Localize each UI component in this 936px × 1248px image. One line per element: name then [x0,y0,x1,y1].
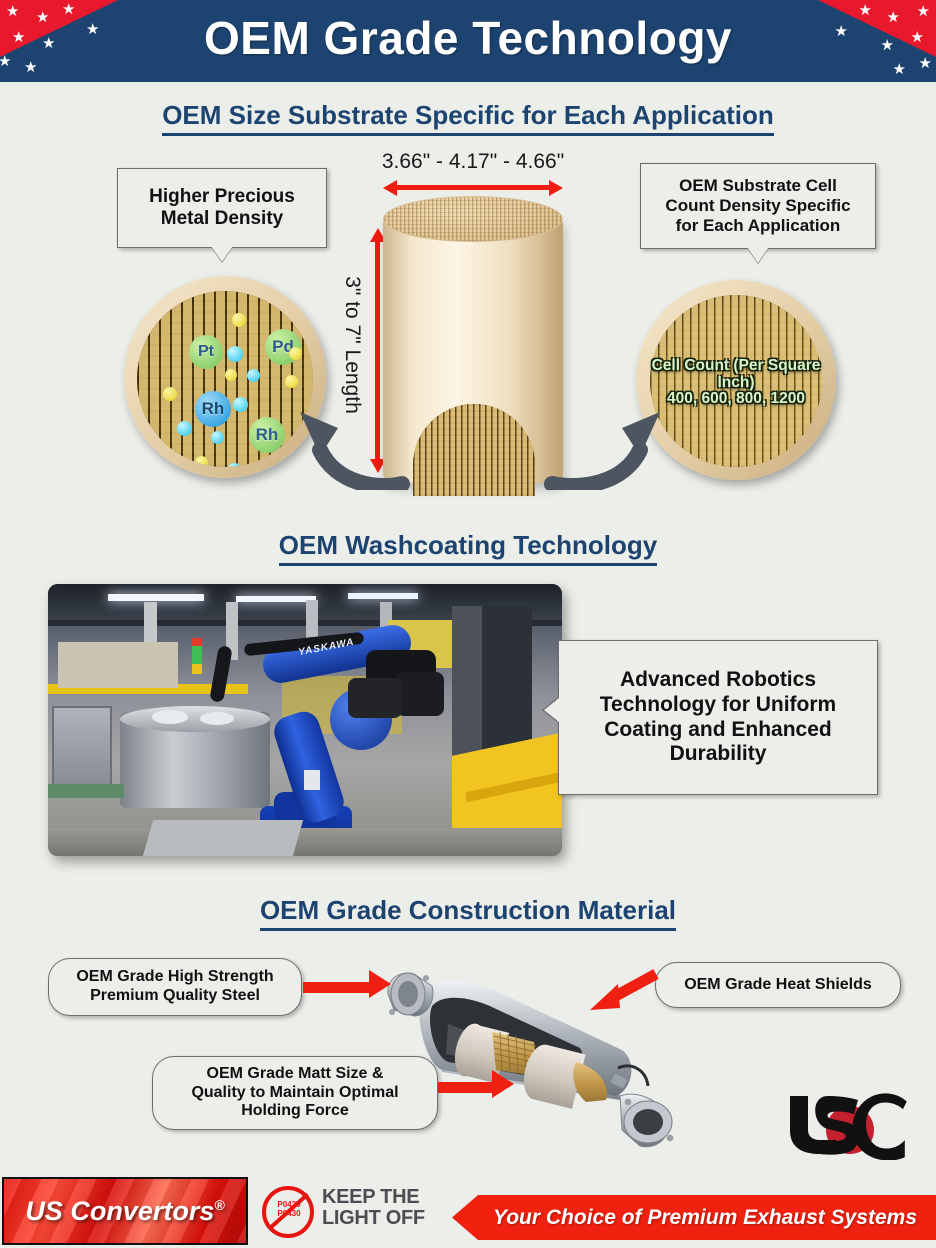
precious-metal-pt: Pt [189,335,223,369]
callout-matt-size-quality: OEM Grade Matt Size & Quality to Maintai… [152,1056,438,1130]
callout-cc-line3: for Each Application [665,216,850,236]
brand-name: US Convertors® [25,1196,224,1227]
page-footer: US Convertors® P0420 P0430 KEEP THE LIGH… [0,1165,936,1248]
precious-metal-particle [227,463,242,467]
callout-ar-line4: Durability [600,742,836,767]
tagline-text: Your Choice of Premium Exhaust Systems [471,1206,917,1230]
cell-count-title: Cell Count (Per Square Inch) [636,358,836,391]
callout-cc-line2: Count Density Specific [665,196,850,216]
precious-metal-particle [227,346,243,362]
curved-arrow-left [290,398,410,490]
precious-metal-particle [289,347,302,360]
precious-metal-particle [225,369,237,381]
dtc-codes: P0420 P0430 [273,1200,305,1219]
section-heading-material-text: OEM Grade Construction Material [260,895,676,931]
section-heading-material: OEM Grade Construction Material [0,895,936,926]
precious-metal-particle [285,375,298,388]
precious-metal-particle [233,397,248,412]
arrow-to-heat-shields [586,968,662,1014]
substrate-diameter-label: 3.66" - 4.17" - 4.66" [333,150,613,174]
arrow-to-steel [303,982,371,993]
section-heading-washcoating-text: OEM Washcoating Technology [279,530,657,566]
page-title: OEM Grade Technology [0,0,936,76]
stars-triangle-icon-right: ★ ★ ★ ★ ★ ★ ★ ★ [818,0,936,82]
callout-advanced-robotics: Advanced Robotics Technology for Uniform… [558,640,878,795]
callout-steel-line2: Premium Quality Steel [76,987,273,1006]
callout-matt-line2: Quality to Maintain Optimal [191,1084,398,1103]
section-heading-size: OEM Size Substrate Specific for Each App… [0,100,936,131]
arrow-head-matt [492,1070,514,1098]
substrate-cylinder-illustration [383,196,563,496]
precious-metal-particle [177,421,192,436]
precious-metal-rh: Rh [195,391,231,427]
callout-tail-robotics [544,698,559,722]
keep-light-off-text: KEEP THE LIGHT OFF [322,1187,425,1230]
callout-premium-quality-steel: OEM Grade High Strength Premium Quality … [48,958,302,1016]
arrow-to-matt [438,1082,494,1093]
precious-metal-rh: Rh [249,417,285,453]
arrow-head-steel [369,970,391,998]
page-header: ★ ★ ★ ★ ★ ★ ★ ★ OEM Grade Technology ★ ★… [0,0,936,82]
section-heading-size-text: OEM Size Substrate Specific for Each App… [162,100,774,136]
callout-tail-right [747,247,769,263]
precious-metal-particle [232,313,246,327]
callout-pm-line2: Metal Density [149,208,295,230]
usc-logo [784,1090,920,1160]
callout-matt-line1: OEM Grade Matt Size & [191,1065,398,1084]
precious-metal-particle [247,369,260,382]
keep-the-light-off-logo: P0420 P0430 KEEP THE LIGHT OFF [262,1185,442,1237]
precious-metal-particle [195,456,208,467]
section-heading-washcoating: OEM Washcoating Technology [0,530,936,561]
callout-heat-shields-text: OEM Grade Heat Shields [684,976,872,995]
callout-ar-line2: Technology for Uniform [600,693,836,718]
robotics-photo: YASKAWA [48,584,562,856]
curved-arrow-right [540,398,670,490]
callout-heat-shields: OEM Grade Heat Shields [655,962,901,1008]
callout-steel-line1: OEM Grade High Strength [76,968,273,987]
callout-matt-line3: Holding Force [191,1102,398,1121]
diameter-dimension-arrow [383,180,563,194]
precious-metal-particle [211,431,224,444]
callout-higher-precious-metal-density: Higher Precious Metal Density [117,168,327,248]
callout-cell-count-density: OEM Substrate Cell Count Density Specifi… [640,163,876,249]
callout-ar-line3: Coating and Enhanced [600,718,836,743]
callout-ar-line1: Advanced Robotics [600,668,836,693]
callout-tail-left [211,246,233,262]
brand-badge: US Convertors® [2,1177,248,1245]
callout-cc-line1: OEM Substrate Cell [665,176,850,196]
callout-pm-line1: Higher Precious [149,186,295,208]
precious-metal-particle [261,459,274,467]
precious-metal-particle [163,387,177,401]
tagline-banner: Your Choice of Premium Exhaust Systems [452,1195,936,1240]
